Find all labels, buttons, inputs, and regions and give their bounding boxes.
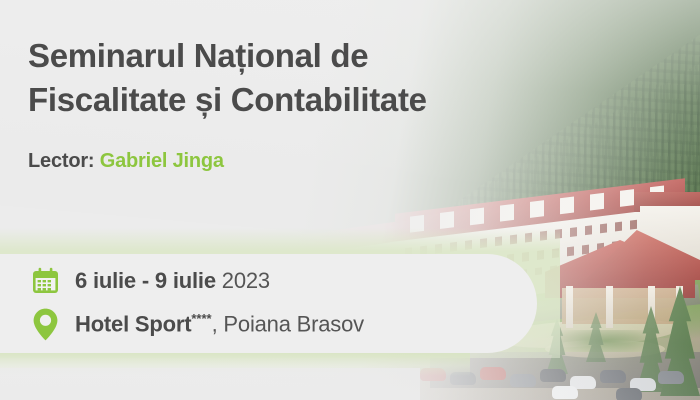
lecturer-label: Lector:	[28, 150, 94, 172]
event-date-year: 2023	[222, 268, 270, 293]
venue-stars: ****	[191, 311, 211, 326]
bottom-fade	[0, 368, 420, 400]
event-date-row: 6 iulie - 9 iulie 2023	[30, 265, 270, 297]
event-location-text: Hotel Sport****, Poiana Brasov	[75, 311, 364, 337]
event-details-panel: 6 iulie - 9 iulie 2023 Hotel Sport****, …	[0, 254, 537, 353]
page-title: Seminarul Național de Fiscalitate și Con…	[28, 34, 498, 122]
event-banner: Seminarul Național de Fiscalitate și Con…	[0, 0, 700, 400]
title-line-1: Seminarul Național de	[28, 34, 498, 78]
calendar-icon	[30, 265, 60, 297]
venue-name: Hotel Sport	[75, 311, 191, 336]
event-location-row: Hotel Sport****, Poiana Brasov	[30, 308, 364, 340]
event-date-text: 6 iulie - 9 iulie 2023	[75, 268, 270, 294]
venue-city: , Poiana Brasov	[212, 311, 364, 336]
title-line-2: Fiscalitate și Contabilitate	[28, 78, 498, 122]
lecturer-line: Lector: Gabriel Jinga	[28, 150, 224, 173]
map-pin-icon	[30, 308, 60, 340]
event-date-range: 6 iulie - 9 iulie	[75, 268, 216, 293]
lecturer-name: Gabriel Jinga	[100, 150, 224, 172]
